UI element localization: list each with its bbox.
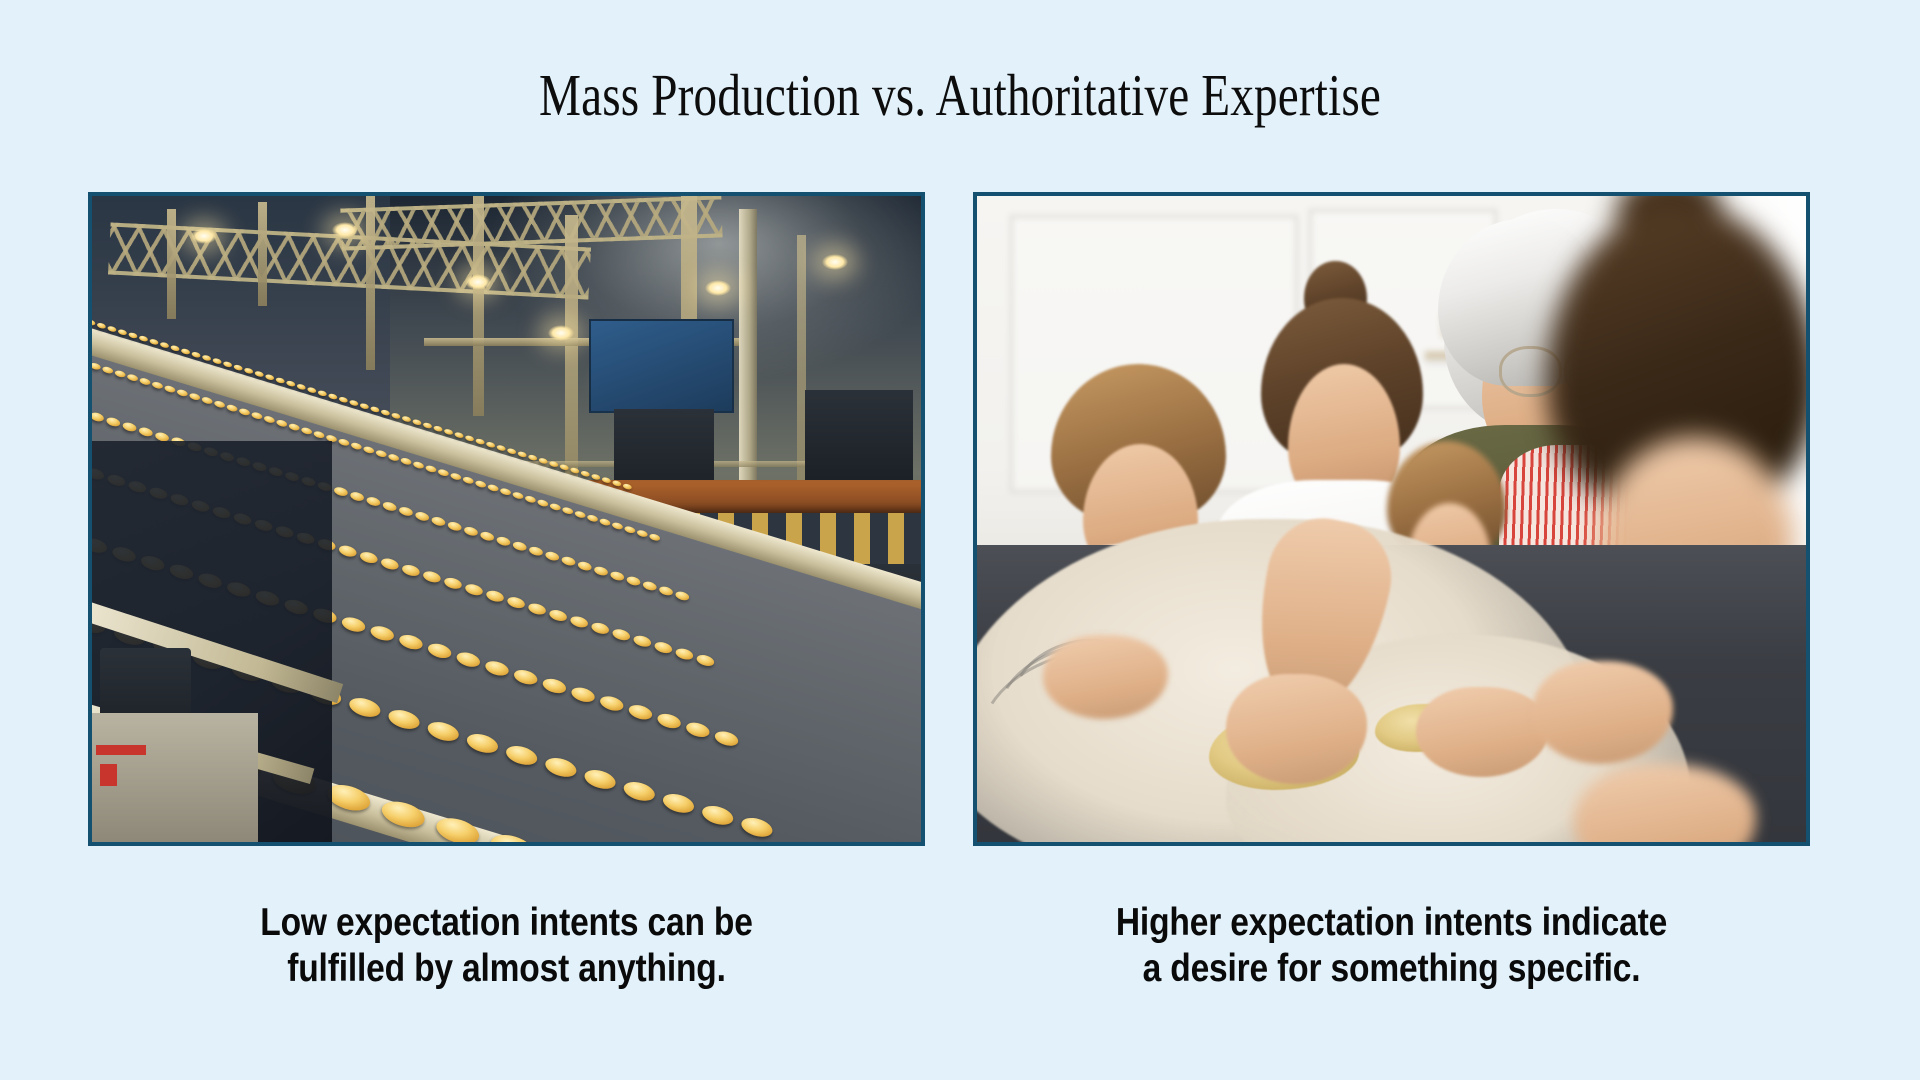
ceiling-light [822,254,848,270]
support-column [167,209,176,319]
blue-machine-unit [589,319,734,413]
support-column [366,196,375,370]
page-title: Mass Production vs. Authoritative Expert… [192,62,1728,128]
ceiling-light [465,274,491,290]
ceiling-light [332,222,358,238]
panel-captions: Low expectation intents can be fulfilled… [88,900,1840,1030]
image-panels [88,192,1840,846]
factory-floor [92,713,258,842]
support-column [473,196,484,416]
photo-factory-conveyor [92,196,921,842]
panel-right-authoritative-expertise [973,192,1810,846]
caption-left: Low expectation intents can be fulfilled… [147,900,867,1030]
support-column [258,202,267,305]
caption-right: Higher expectation intents indicate a de… [1032,900,1752,1030]
floor-marking-red [100,764,117,786]
slide-root: Mass Production vs. Authoritative Expert… [0,0,1920,1080]
photo-family-baking [977,196,1806,842]
panel-left-mass-production [88,192,925,846]
floor-marking-red [96,745,146,755]
